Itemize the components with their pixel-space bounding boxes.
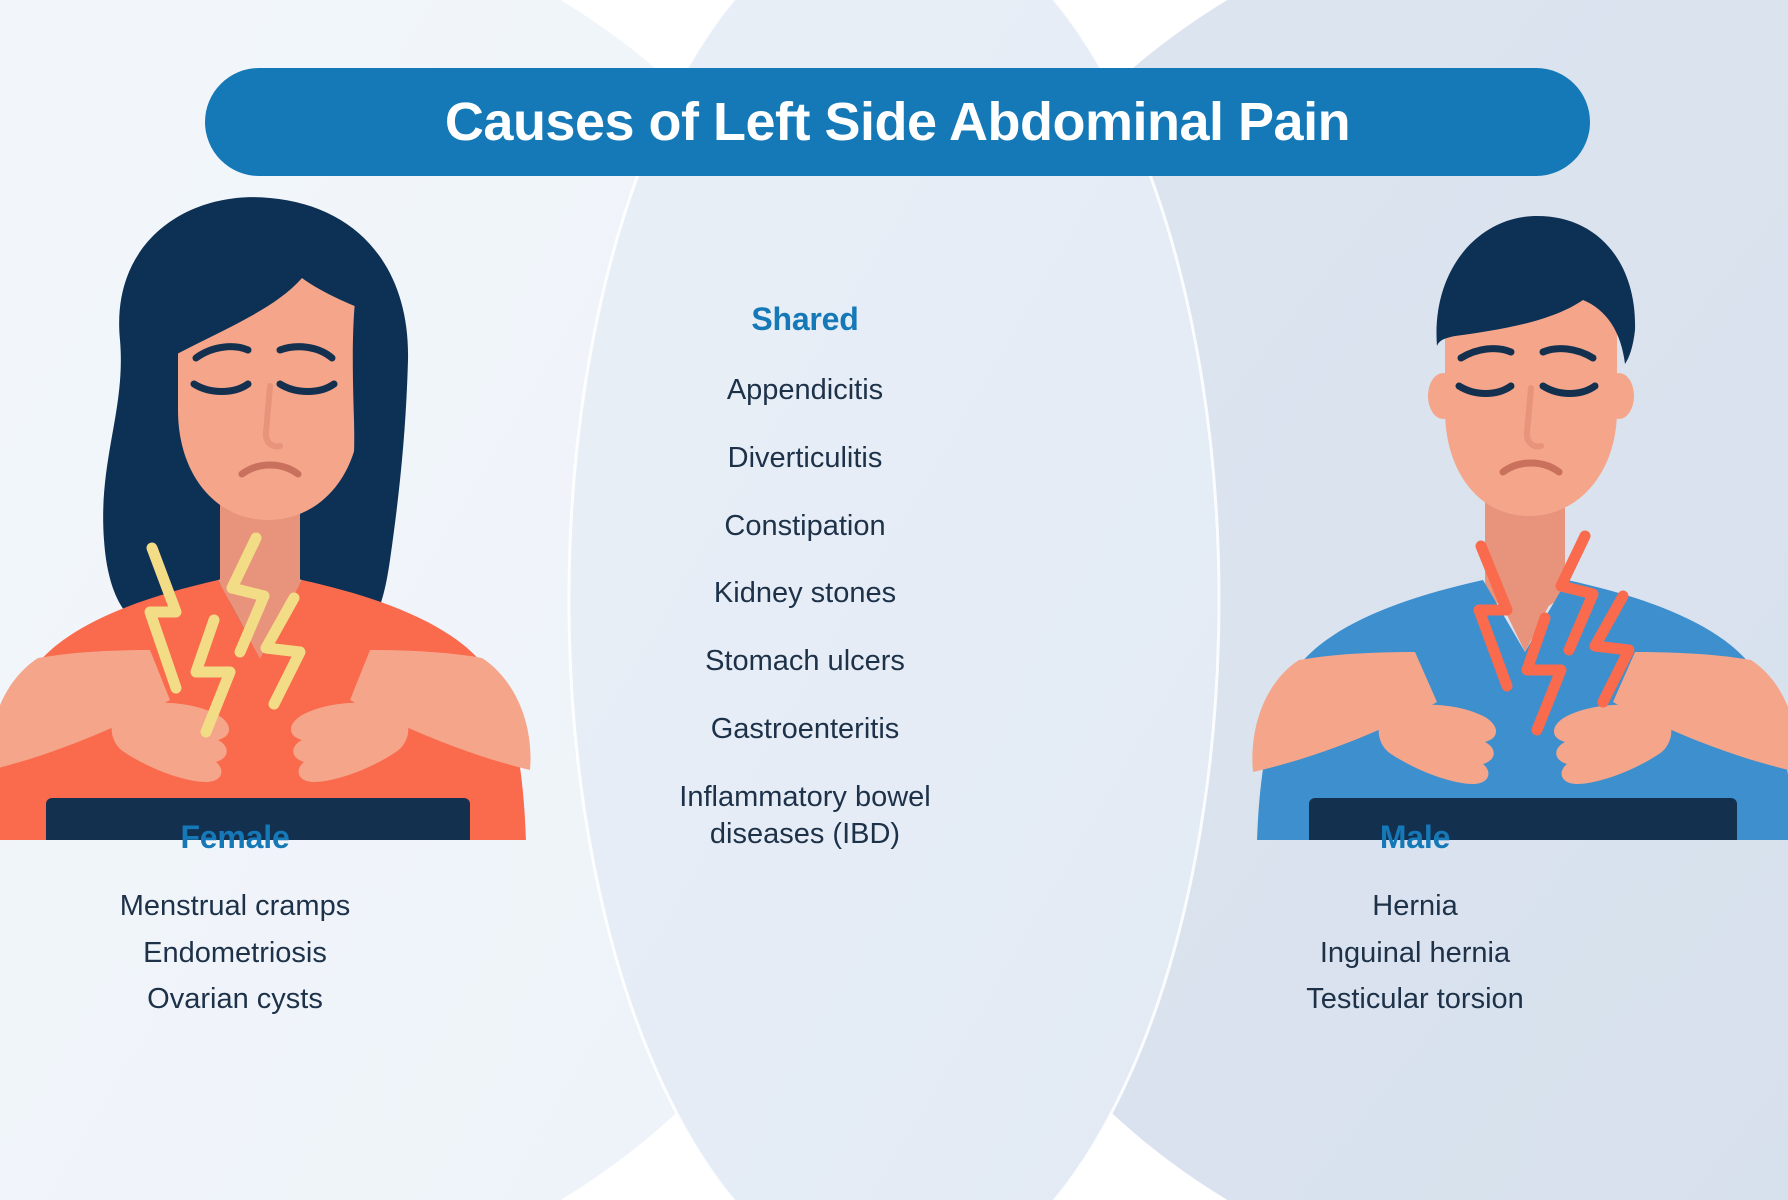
female-list: Menstrual cramps Endometriosis Ovarian c… xyxy=(0,886,470,1020)
list-item: Inguinal hernia xyxy=(1180,933,1650,974)
female-figure-illustration xyxy=(0,160,540,840)
list-item: Stomach ulcers xyxy=(620,643,990,681)
female-column: Female Menstrual cramps Endometriosis Ov… xyxy=(0,818,470,1025)
list-item: Menstrual cramps xyxy=(0,886,470,927)
shared-heading: Shared xyxy=(620,300,990,338)
list-item: Inflammatory bowel diseases (IBD) xyxy=(620,779,990,854)
male-list: Hernia Inguinal hernia Testicular torsio… xyxy=(1180,886,1650,1020)
list-item: Testicular torsion xyxy=(1180,979,1650,1020)
male-heading: Male xyxy=(1180,818,1650,856)
infographic-root: Causes of Left Side Abdominal Pain xyxy=(0,0,1788,1200)
male-column: Male Hernia Inguinal hernia Testicular t… xyxy=(1180,818,1650,1025)
list-item: Ovarian cysts xyxy=(0,979,470,1020)
male-figure-illustration xyxy=(1245,160,1788,840)
list-item: Diverticulitis xyxy=(620,440,990,478)
list-item: Appendicitis xyxy=(620,372,990,410)
female-heading: Female xyxy=(0,818,470,856)
list-item: Constipation xyxy=(620,508,990,546)
list-item: Endometriosis xyxy=(0,933,470,974)
page-title: Causes of Left Side Abdominal Pain xyxy=(445,95,1350,149)
male-left-ear xyxy=(1428,373,1458,419)
list-item: Hernia xyxy=(1180,886,1650,927)
list-item: Kidney stones xyxy=(620,575,990,613)
title-banner: Causes of Left Side Abdominal Pain xyxy=(205,68,1590,176)
shared-list: Appendicitis Diverticulitis Constipation… xyxy=(620,372,990,854)
male-right-ear xyxy=(1604,373,1634,419)
shared-column: Shared Appendicitis Diverticulitis Const… xyxy=(620,300,990,854)
list-item: Gastroenteritis xyxy=(620,711,990,749)
